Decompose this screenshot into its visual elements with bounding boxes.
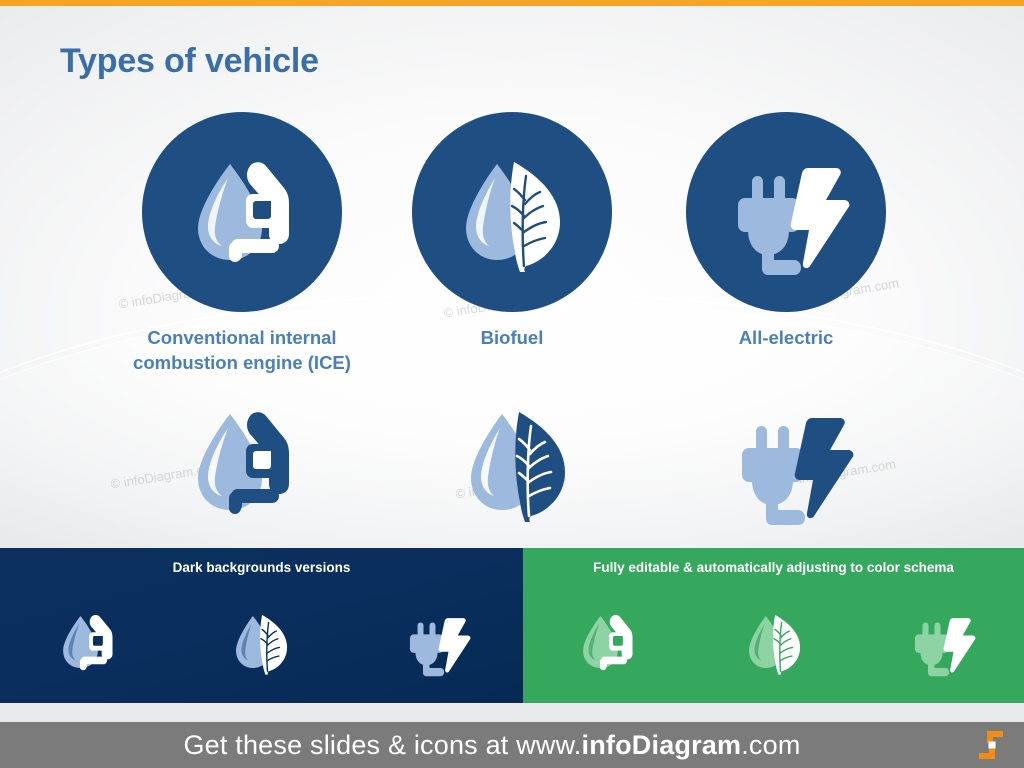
dark-band-icon-biofuel[interactable]: [221, 605, 301, 679]
caption-line-1: Conventional internal: [92, 326, 392, 351]
infodiagram-logo-icon: [974, 729, 1008, 761]
top-accent-bar: [0, 0, 1024, 6]
plug-bolt-icon: [715, 392, 865, 532]
plug-bolt-icon: [901, 604, 981, 680]
green-band-icon-biofuel[interactable]: [734, 605, 814, 679]
caption-line-1: Biofuel: [362, 326, 662, 351]
fuel-pump-droplet-icon: [167, 392, 317, 532]
caption-ice: Conventional internal combustion engine …: [92, 326, 392, 375]
circle-item-all-electric[interactable]: [686, 112, 886, 312]
fuel-pump-droplet-icon: [47, 604, 127, 680]
green-background-band: Fully editable & automatically adjusting…: [523, 548, 1024, 703]
green-band-icon-ice[interactable]: [567, 605, 647, 679]
fuel-pump-droplet-icon: [567, 604, 647, 680]
flat-item-all-electric[interactable]: [705, 392, 875, 532]
caption-line-1: All-electric: [636, 326, 936, 351]
dark-band-icons: [0, 592, 523, 692]
circle-background: [686, 112, 886, 312]
circle-icon-row: [0, 112, 1024, 312]
footer-text-suffix: .com: [741, 730, 800, 761]
leaf-droplet-icon: [734, 604, 814, 680]
circle-background: [412, 112, 612, 312]
leaf-droplet-icon: [221, 604, 301, 680]
footer-text-prefix: Get these slides & icons at www.: [183, 730, 581, 761]
dark-band-icon-ice[interactable]: [47, 605, 127, 679]
fuel-pump-droplet-icon: [172, 142, 312, 282]
circle-item-biofuel[interactable]: [412, 112, 612, 312]
caption-line-2: combustion engine (ICE): [92, 351, 392, 376]
leaf-droplet-icon: [442, 392, 592, 532]
slide-canvas: Types of vehicle: [0, 0, 1024, 768]
green-band-icon-all-electric[interactable]: [901, 605, 981, 679]
circle-item-ice[interactable]: [142, 112, 342, 312]
footer-bar: Get these slides & icons at www.infoDiag…: [0, 722, 1024, 768]
caption-all-electric: All-electric: [636, 326, 936, 351]
circle-background: [142, 112, 342, 312]
plug-bolt-icon: [716, 142, 856, 282]
dark-background-band: Dark backgrounds versions: [0, 548, 523, 703]
leaf-droplet-icon: [442, 142, 582, 282]
dark-band-icon-all-electric[interactable]: [396, 605, 476, 679]
flat-item-biofuel[interactable]: [432, 392, 602, 532]
caption-biofuel: Biofuel: [362, 326, 662, 351]
green-band-icons: [523, 592, 1024, 692]
plug-bolt-icon: [396, 604, 476, 680]
footer-cta[interactable]: Get these slides & icons at www.infoDiag…: [0, 722, 1024, 768]
flat-icon-row: [0, 392, 1024, 532]
flat-item-ice[interactable]: [157, 392, 327, 532]
green-band-title: Fully editable & automatically adjusting…: [523, 560, 1024, 575]
footer-text-brand: infoDiagram: [582, 730, 742, 761]
dark-band-title: Dark backgrounds versions: [0, 560, 523, 575]
page-title: Types of vehicle: [60, 42, 319, 81]
